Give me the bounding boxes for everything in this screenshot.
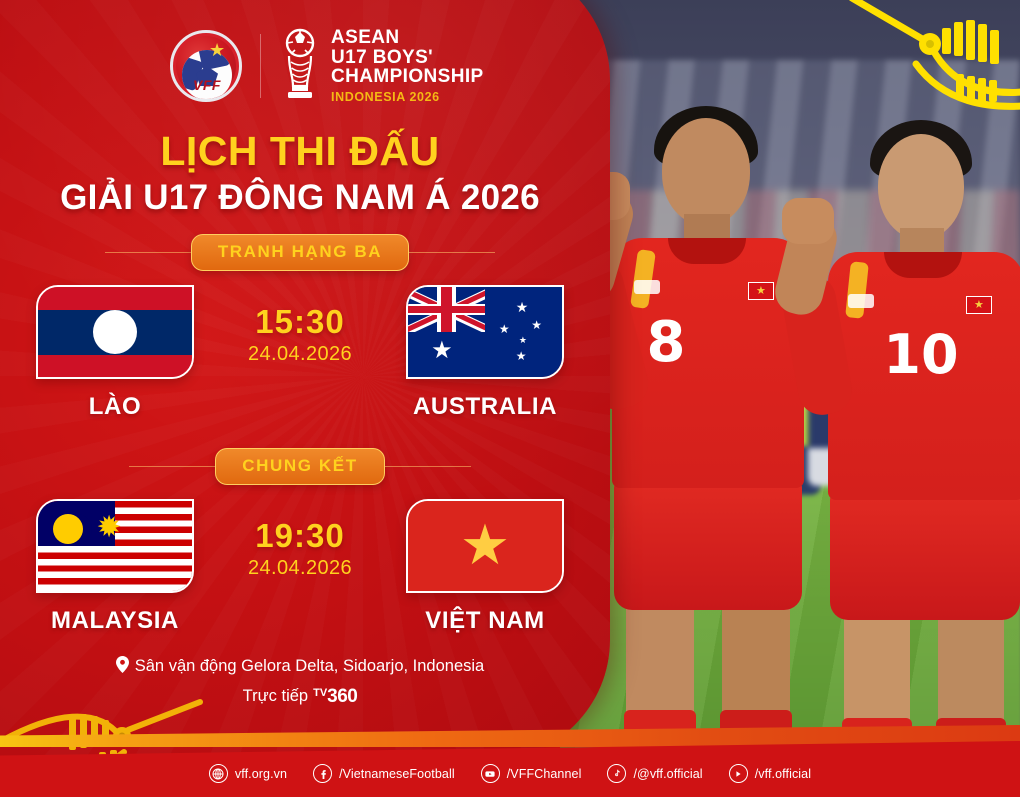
- asean-subtitle: INDONESIA 2026: [331, 90, 484, 104]
- header-logos: ★ VFF ASEAN U17 BOYS' CHAMPIONSHIP: [170, 28, 484, 104]
- player-left-leg-1: [626, 602, 694, 722]
- player-left-leg-2: [722, 602, 790, 722]
- venue-info: Sân vận động Gelora Delta, Sidoarjo, Ind…: [0, 656, 600, 678]
- match2-away: ★ VIỆT NAM: [385, 499, 585, 635]
- malaysia-flag-field: ✹: [38, 501, 192, 591]
- lao-flag: [36, 285, 194, 379]
- player-right-leg-1: [844, 612, 910, 730]
- player-left-flag-patch-star: ★: [756, 286, 766, 297]
- match1-away-name: AUSTRALIA: [413, 393, 557, 421]
- player-left: 8 ★ 8: [580, 110, 810, 760]
- globe-icon: [209, 764, 228, 783]
- australia-flag-field: ★ ★ ★ ★ ★ ★: [408, 287, 562, 377]
- youtube-icon: [481, 764, 500, 783]
- player-right-kit-logo: [848, 294, 874, 308]
- social-label-facebook: /VietnameseFootball: [339, 767, 455, 781]
- match1-kickoff: 15:30 24.04.2026: [215, 285, 385, 366]
- team-photo: 8 ★ 8 10: [560, 0, 1020, 760]
- tv360-logo: TV360: [313, 686, 357, 707]
- social-label-tiktok: /@vff.official: [633, 767, 702, 781]
- match2-time: 19:30: [255, 517, 344, 555]
- tv360-suffix: 360: [327, 686, 357, 707]
- player-left-head: [662, 118, 750, 226]
- asean-line-1: ASEAN: [331, 28, 484, 48]
- vff-star-icon: ★: [209, 41, 225, 59]
- tiktok-icon: [607, 764, 626, 783]
- vietnam-star-icon: ★: [460, 520, 510, 570]
- page-title-primary: LỊCH THI ĐẤU: [0, 128, 600, 175]
- malaysia-star-icon: ✹: [97, 515, 122, 541]
- commonwealth-star-icon: ★: [431, 339, 453, 363]
- lao-flag-disc: [93, 310, 137, 354]
- asean-logo-text: ASEAN U17 BOYS' CHAMPIONSHIP INDONESIA 2…: [331, 28, 484, 104]
- player-right-fist: [782, 198, 834, 244]
- player-right-shorts: 10: [830, 492, 1020, 620]
- vff-wordmark: VFF: [193, 77, 221, 93]
- uj-cross-red-vertical: [441, 287, 452, 332]
- malaysia-crescent-icon: [53, 514, 83, 544]
- vietnam-flag-field: ★: [408, 501, 562, 591]
- match-row-third-place: LÀO 15:30 24.04.2026: [0, 285, 600, 421]
- trophy-icon: [279, 28, 321, 104]
- player-right-flag-patch-star: ★: [974, 300, 984, 311]
- southern-cross-star-4: ★: [519, 336, 527, 345]
- broadcast-info: Trực tiếpTV360: [0, 686, 600, 708]
- social-link-youtube[interactable]: /VFFChannel: [481, 764, 582, 783]
- stage-label: TRANH HẠNG BA: [191, 234, 409, 271]
- social-link-facebook[interactable]: /VietnameseFootball: [313, 764, 455, 783]
- badge-line-right-2: [385, 466, 471, 467]
- australia-flag: ★ ★ ★ ★ ★ ★: [406, 285, 564, 379]
- australia-flag-union-jack: [408, 287, 485, 332]
- match1-home-name: LÀO: [89, 393, 141, 421]
- facebook-icon: [313, 764, 332, 783]
- stage-badge-third-place: TRANH HẠNG BA: [0, 234, 600, 271]
- match-schedule-poster: 8 ★ 8 10: [0, 0, 1020, 797]
- match1-time: 15:30: [255, 303, 344, 341]
- social-link-tiktok[interactable]: /@vff.official: [607, 764, 702, 783]
- vff-logo-icon: ★ VFF: [170, 30, 242, 102]
- venue-text: Sân vận động Gelora Delta, Sidoarjo, Ind…: [135, 657, 484, 675]
- player-right: 10 ★ 10: [800, 120, 1020, 760]
- malaysia-flag: ✹: [36, 499, 194, 593]
- page-title-secondary: GIẢI U17 ĐÔNG NAM Á 2026: [0, 178, 600, 218]
- match1-away: ★ ★ ★ ★ ★ ★ AUSTRALIA: [385, 285, 585, 421]
- social-link-play[interactable]: /vff.official: [729, 764, 811, 783]
- play-icon: [729, 764, 748, 783]
- lao-flag-field: [38, 287, 192, 377]
- match1-home: LÀO: [15, 285, 215, 421]
- tv360-prefix: TV: [313, 687, 327, 699]
- player-left-kit-logo: [634, 280, 660, 294]
- match2-home: ✹ MALAYSIA: [15, 499, 215, 635]
- social-links: vff.org.vn /VietnameseFootball /VFFChann…: [0, 764, 1020, 783]
- player-right-jersey-number: 10: [876, 320, 966, 390]
- social-link-website[interactable]: vff.org.vn: [209, 764, 287, 783]
- asean-line-3: CHAMPIONSHIP: [331, 67, 484, 87]
- location-pin-icon: [116, 656, 129, 678]
- player-right-head: [878, 134, 964, 240]
- vietnam-flag: ★: [406, 499, 564, 593]
- southern-cross-star-5: ★: [516, 350, 527, 362]
- badge-line-right: [409, 252, 495, 253]
- broadcast-label: Trực tiếp: [243, 687, 308, 705]
- footer-bar: vff.org.vn /VietnameseFootball /VFFChann…: [0, 729, 1020, 797]
- header-divider: [260, 34, 261, 98]
- badge-line-left: [105, 252, 191, 253]
- stage-label-2: CHUNG KẾT: [215, 448, 384, 485]
- match2-date: 24.04.2026: [248, 557, 352, 580]
- badge-line-left-2: [129, 466, 215, 467]
- asean-line-2: U17 BOYS': [331, 48, 484, 68]
- match2-home-name: MALAYSIA: [51, 607, 179, 635]
- player-left-shorts: 8: [614, 480, 802, 610]
- match2-kickoff: 19:30 24.04.2026: [215, 499, 385, 580]
- match-row-final: ✹ MALAYSIA 19:30 24.04.2026 ★ VIỆT NAM: [0, 499, 600, 635]
- match2-away-name: VIỆT NAM: [425, 607, 544, 635]
- southern-cross-star-1: ★: [516, 300, 529, 314]
- asean-championship-logo: ASEAN U17 BOYS' CHAMPIONSHIP INDONESIA 2…: [279, 28, 484, 104]
- social-label-website: vff.org.vn: [235, 767, 287, 781]
- player-right-leg-2: [938, 612, 1004, 730]
- match1-date: 24.04.2026: [248, 343, 352, 366]
- social-label-play: /vff.official: [755, 767, 811, 781]
- social-label-youtube: /VFFChannel: [507, 767, 582, 781]
- southern-cross-star-3: ★: [531, 319, 542, 331]
- stage-badge-final: CHUNG KẾT: [0, 448, 600, 485]
- southern-cross-star-2: ★: [499, 323, 510, 335]
